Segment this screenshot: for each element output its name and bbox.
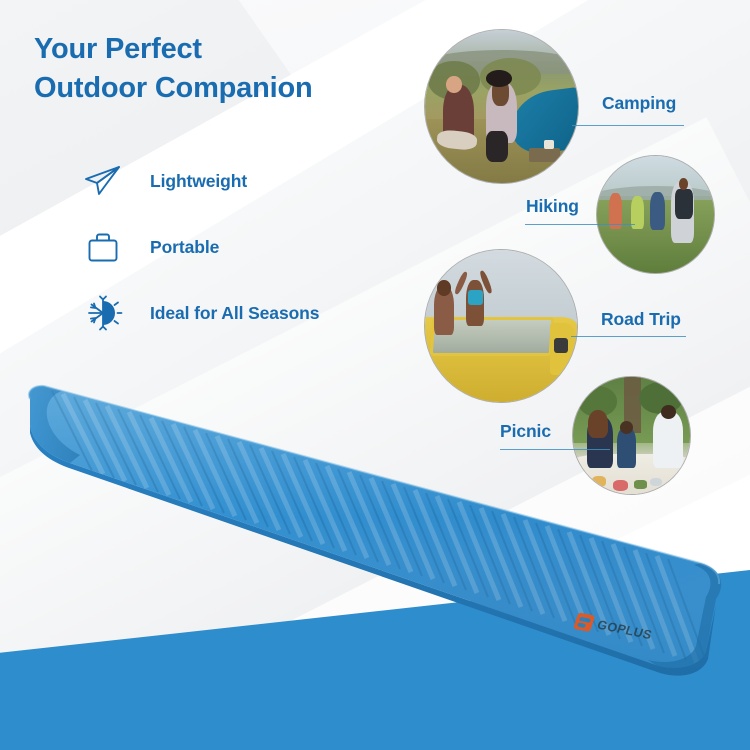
sleeping-pad-illustration bbox=[0, 355, 750, 715]
caption-rule-hiking bbox=[525, 224, 635, 225]
page-title: Your Perfect Outdoor Companion bbox=[34, 30, 434, 107]
use-case-label-camping: Camping bbox=[602, 93, 676, 114]
paper-plane-icon bbox=[80, 159, 126, 203]
camping-photo-image bbox=[425, 30, 578, 183]
use-case-label-road-trip: Road Trip bbox=[601, 309, 681, 330]
sun-snowflake-icon bbox=[80, 291, 126, 335]
use-case-label-hiking: Hiking bbox=[526, 196, 579, 217]
use-case-photo-camping bbox=[425, 30, 578, 183]
feature-list: Lightweight Portable bbox=[80, 148, 410, 346]
caption-rule-camping bbox=[572, 125, 684, 126]
bag-icon bbox=[80, 225, 126, 269]
feature-label-all-seasons: Ideal for All Seasons bbox=[150, 303, 319, 324]
feature-item-all-seasons: Ideal for All Seasons bbox=[80, 280, 410, 346]
goplus-logo-mark-icon bbox=[573, 612, 595, 632]
product-image-sleeping-pad bbox=[0, 355, 750, 715]
hiking-photo-image bbox=[597, 156, 714, 273]
headline-line-2: Outdoor Companion bbox=[34, 69, 434, 108]
feature-item-lightweight: Lightweight bbox=[80, 148, 410, 214]
use-case-photo-hiking bbox=[597, 156, 714, 273]
product-marketing-poster: Your Perfect Outdoor Companion Lightweig… bbox=[0, 0, 750, 750]
headline-line-1: Your Perfect bbox=[34, 33, 202, 65]
feature-label-portable: Portable bbox=[150, 237, 219, 258]
goplus-logo-text: GOPLUS bbox=[595, 618, 654, 642]
feature-label-lightweight: Lightweight bbox=[150, 171, 247, 192]
caption-rule-road-trip bbox=[571, 336, 686, 337]
feature-item-portable: Portable bbox=[80, 214, 410, 280]
